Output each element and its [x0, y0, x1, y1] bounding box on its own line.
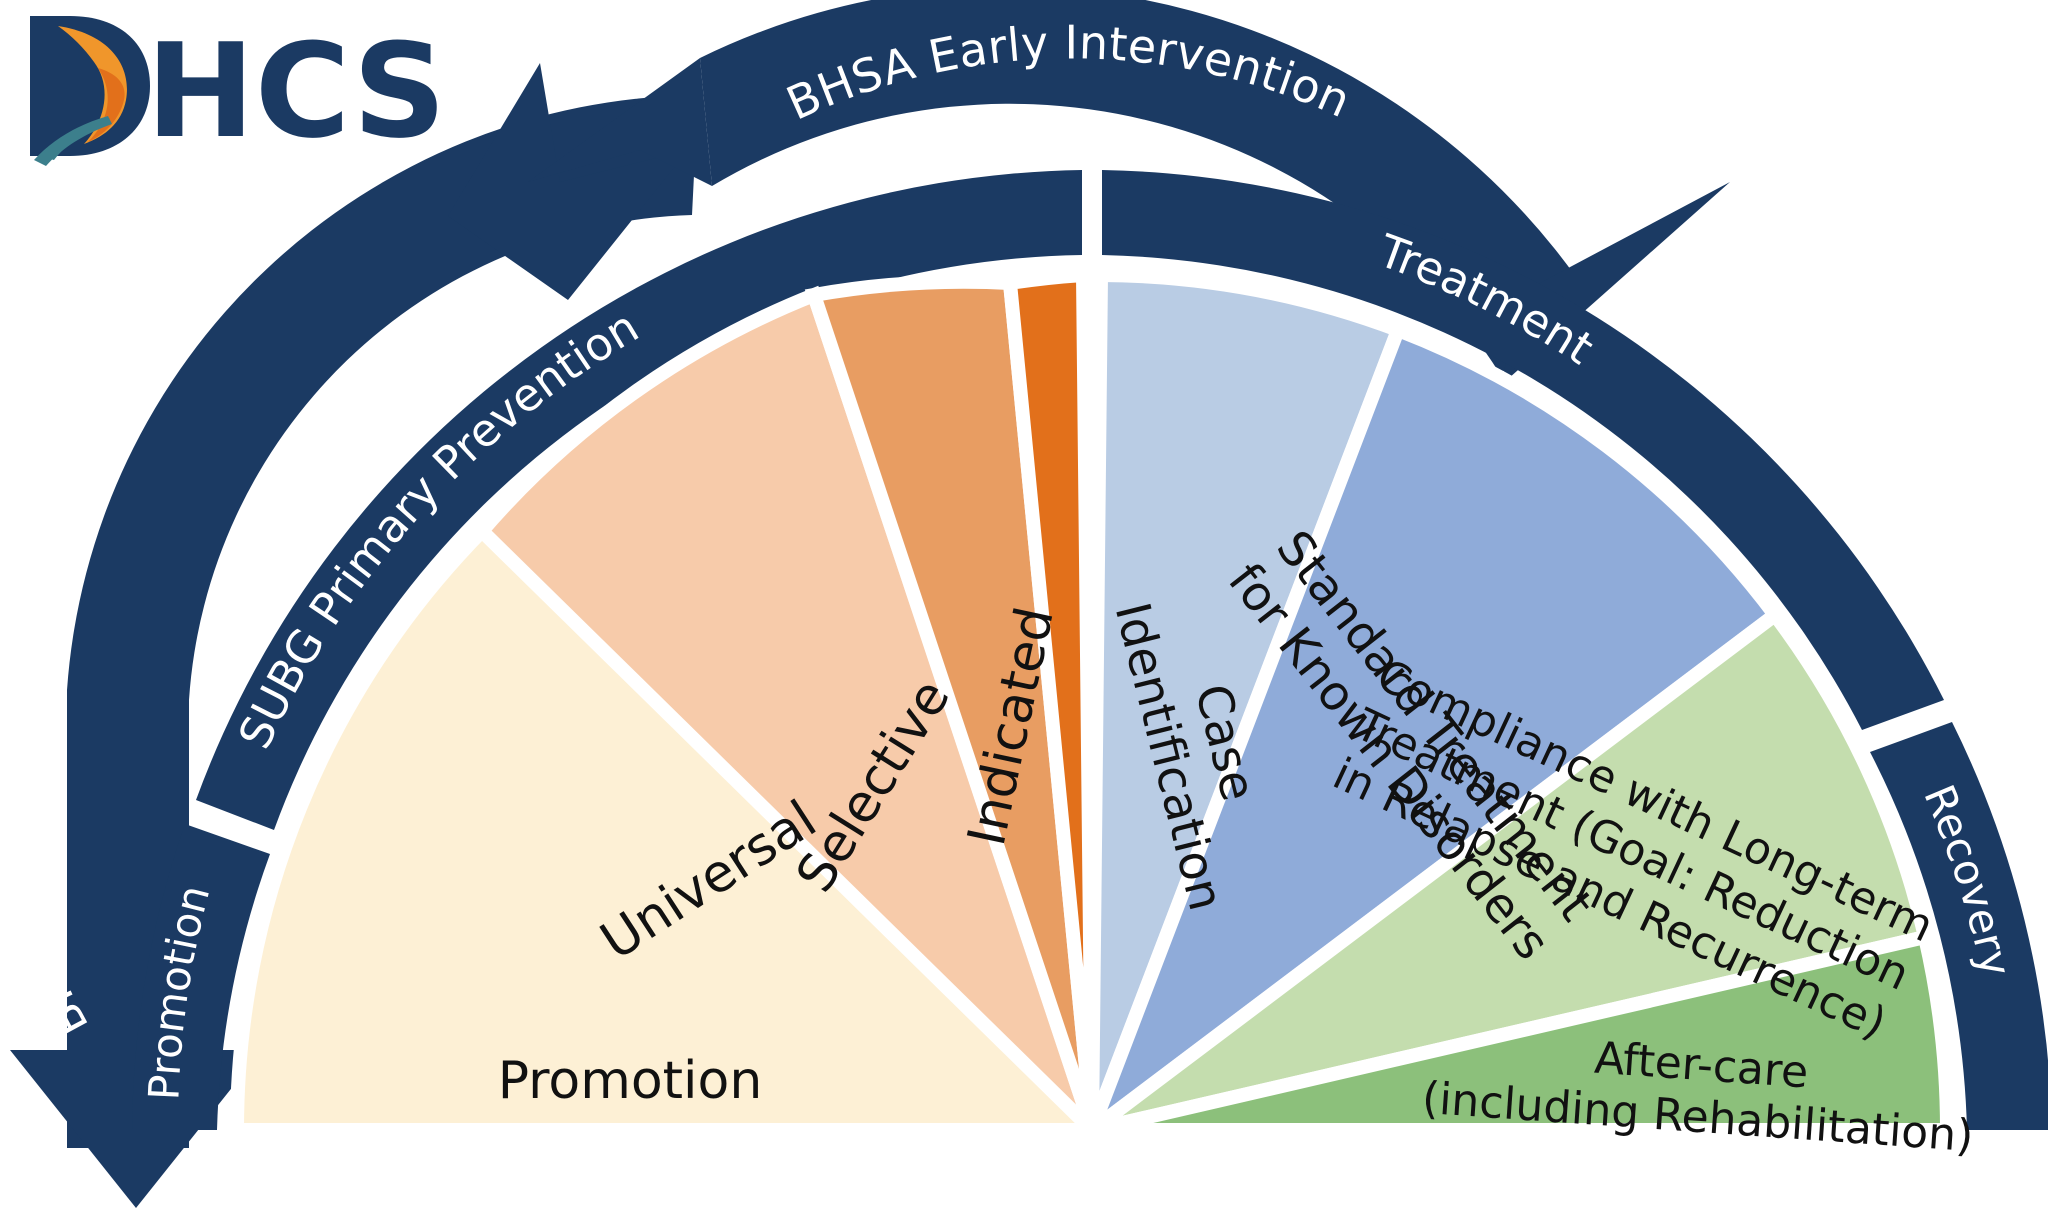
diagram-canvas: BHSA Population Prevention BHSA Early In…	[0, 0, 2048, 1216]
intervention-spectrum-diagram: BHSA Population Prevention BHSA Early In…	[0, 0, 2048, 1216]
logo-wordmark: HCS	[146, 15, 446, 167]
sector-label-promotion: Promotion	[498, 1051, 763, 1111]
dhcs-logo[interactable]: HCS	[30, 15, 446, 167]
